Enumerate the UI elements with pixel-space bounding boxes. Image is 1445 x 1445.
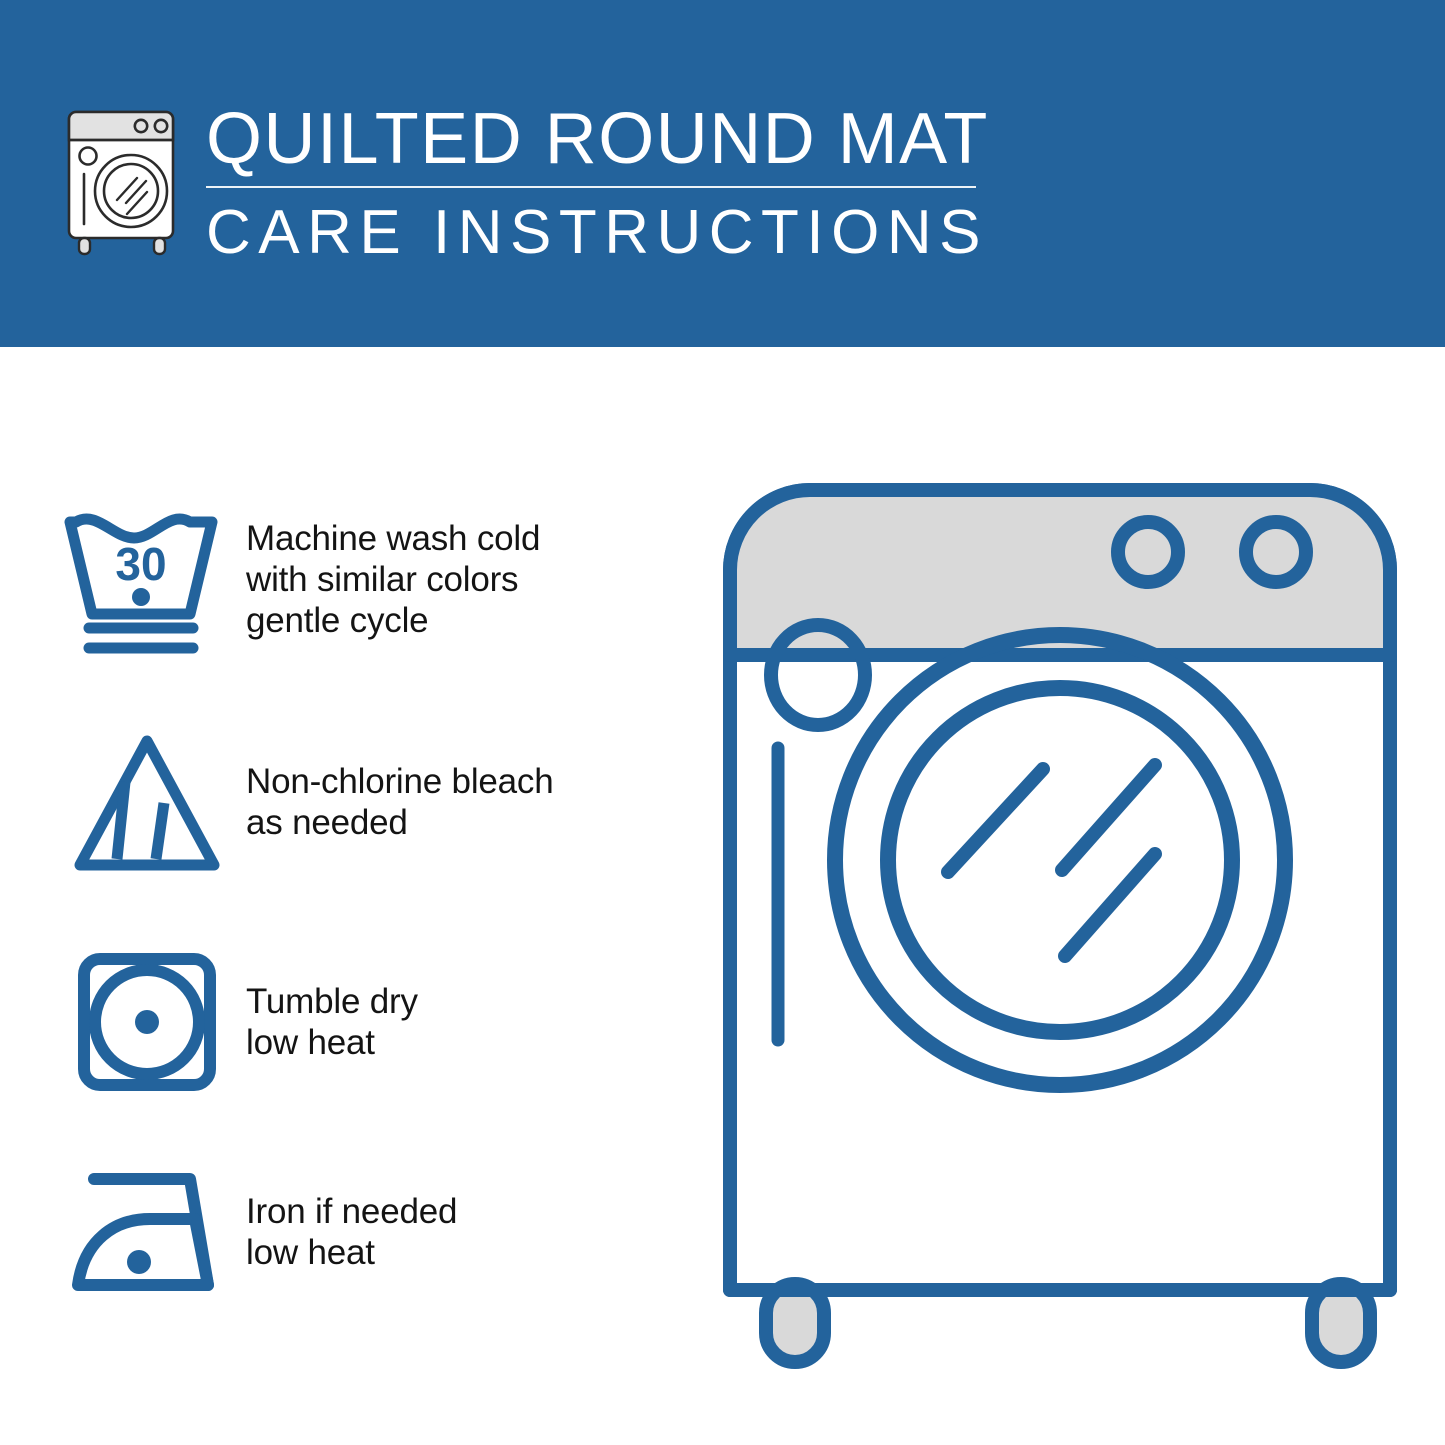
care-instruction-list: 30 Machine wash cold with similar colors…	[0, 347, 700, 1445]
care-label-iron: Iron if needed low heat	[240, 1191, 457, 1273]
care-instructions-infographic: QUILTED ROUND MAT CARE INSTRUCTIONS 30	[0, 0, 1445, 1445]
title-divider	[206, 186, 976, 188]
care-row-iron: Iron if needed low heat	[62, 1157, 682, 1307]
tumble-dry-icon	[62, 947, 240, 1097]
care-label-bleach: Non-chlorine bleach as needed	[240, 761, 554, 843]
care-row-tumble-dry: Tumble dry low heat	[62, 947, 682, 1097]
page-title: QUILTED ROUND MAT	[206, 98, 996, 180]
svg-text:30: 30	[115, 538, 166, 590]
header-title-block: QUILTED ROUND MAT CARE INSTRUCTIONS	[206, 98, 996, 270]
page-subtitle: CARE INSTRUCTIONS	[206, 196, 996, 270]
front-load-washing-machine-illustration	[700, 460, 1420, 1390]
care-row-bleach: Non-chlorine bleach as needed	[62, 727, 682, 877]
washing-machine-icon	[62, 104, 184, 256]
bleach-triangle-icon	[62, 727, 240, 877]
care-label-machine-wash: Machine wash cold with similar colors ge…	[240, 518, 540, 641]
iron-icon	[62, 1157, 240, 1307]
care-label-tumble-dry: Tumble dry low heat	[240, 981, 418, 1063]
header-band: QUILTED ROUND MAT CARE INSTRUCTIONS	[0, 0, 1445, 347]
wash-tub-30-icon: 30	[62, 502, 240, 657]
care-row-machine-wash: 30 Machine wash cold with similar colors…	[62, 502, 682, 657]
